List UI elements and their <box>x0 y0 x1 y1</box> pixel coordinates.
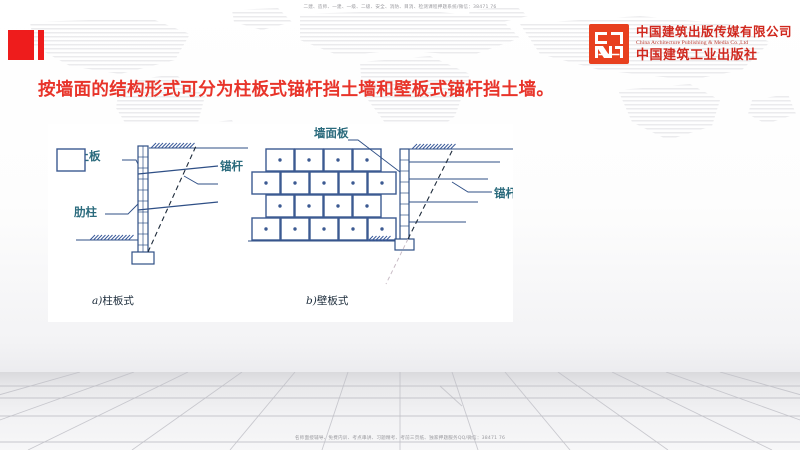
publisher-company-cn: 中国建筑出版传媒有限公司 <box>636 26 792 39</box>
slide-background-floor: 名师面授辅导、免费内训、考点串讲、习题精考、考前三页纸、独家押题服务QQ/微信：… <box>0 372 800 450</box>
label-anchor-rod-left: 锚杆 <box>220 159 243 173</box>
figure-right-caption: b)壁板式 <box>306 294 349 307</box>
publisher-logo: 中国建筑出版传媒有限公司 China Architecture Publishi… <box>589 24 792 64</box>
figure-left-caption: a)柱板式 <box>92 294 134 307</box>
figure-right-caption-prefix: b) <box>306 295 317 307</box>
watermark-top: 二建、造师、一建、一级、二级、安全、消防、目消、检测课程押题系统/微信：3847… <box>0 4 800 10</box>
label-rib-column: 肋柱 <box>74 205 97 219</box>
page-title: 按墙面的结构形式可分为柱板式锚杆挡土墙和壁板式锚杆挡土墙。 <box>38 76 758 101</box>
publisher-press-cn: 中国建筑工业出版社 <box>636 49 792 62</box>
header-red-bar-icon <box>38 30 44 60</box>
label-wall-panel: 墙面板 <box>314 126 349 140</box>
publisher-company-en: China Architecture Publishing & Media Co… <box>636 41 792 47</box>
slide-canvas: 中国建筑出版传媒有限公司 China Architecture Publishi… <box>0 0 800 450</box>
figure-left-caption-prefix: a) <box>92 295 102 307</box>
publisher-logo-text: 中国建筑出版传媒有限公司 China Architecture Publishi… <box>636 26 792 61</box>
header-red-block-icon <box>8 30 34 60</box>
watermark-bottom: 名师面授辅导、免费内训、考点串讲、习题精考、考前三页纸、独家押题服务QQ/微信：… <box>0 435 800 441</box>
wall-panel-grid <box>57 149 85 171</box>
figure-right-caption-text: 壁板式 <box>317 294 349 307</box>
slide-background-upper: 中国建筑出版传媒有限公司 China Architecture Publishi… <box>0 0 800 372</box>
wall-panel-grid-render <box>252 149 396 240</box>
figure-left-caption-text: 柱板式 <box>102 294 134 307</box>
label-anchor-rod-right: 锚杆 <box>494 186 513 200</box>
figure-left-diagram: 挡土板 肋柱 锚杆 a)柱板式 <box>66 143 248 307</box>
figure-card: 挡土板 肋柱 锚杆 a)柱板式 <box>48 124 513 322</box>
figure-right-diagram: 墙面板 锚杆 b)壁板式 <box>57 126 513 307</box>
publisher-logo-icon <box>589 24 629 64</box>
